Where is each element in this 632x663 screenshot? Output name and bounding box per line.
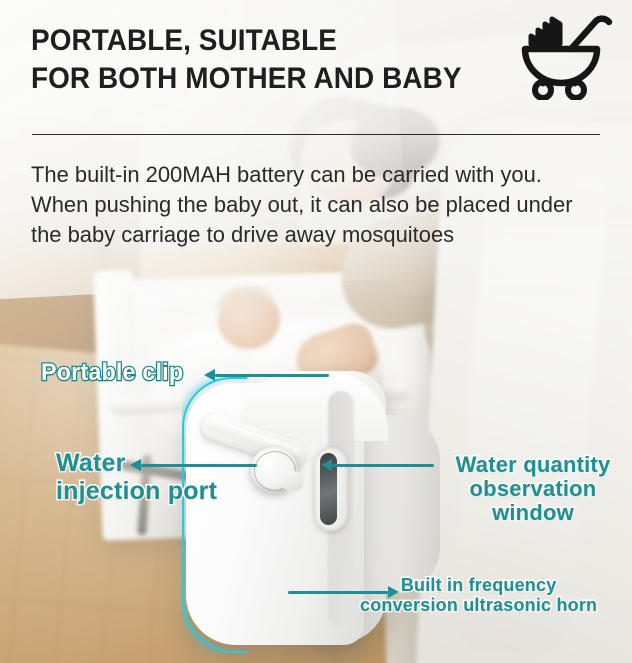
callout-label-observation-window: Water quantity observation window: [434, 453, 632, 526]
arrow-left-icon: [204, 369, 215, 381]
arrow-left-icon: [321, 459, 332, 471]
callout-label-water-injection-port: Water injection port: [56, 450, 217, 505]
page-title: PORTABLE, SUITABLE FOR BOTH MOTHER AND B…: [31, 22, 515, 98]
callout-label-ultrasonic-horn: Built in frequency conversion ultrasonic…: [360, 576, 597, 616]
body-description: The built-in 200MAH battery can be carri…: [31, 160, 587, 250]
leader-line-observation-window: [332, 464, 434, 467]
leader-line-portable-clip: [215, 374, 329, 377]
device-rear-body: [356, 415, 440, 593]
callout-label-portable-clip: Portable clip: [41, 360, 183, 386]
baby-stroller-icon: [513, 8, 617, 100]
header-divider: [32, 134, 600, 135]
product-infographic-poster: PORTABLE, SUITABLE FOR BOTH MOTHER AND B…: [0, 0, 632, 663]
